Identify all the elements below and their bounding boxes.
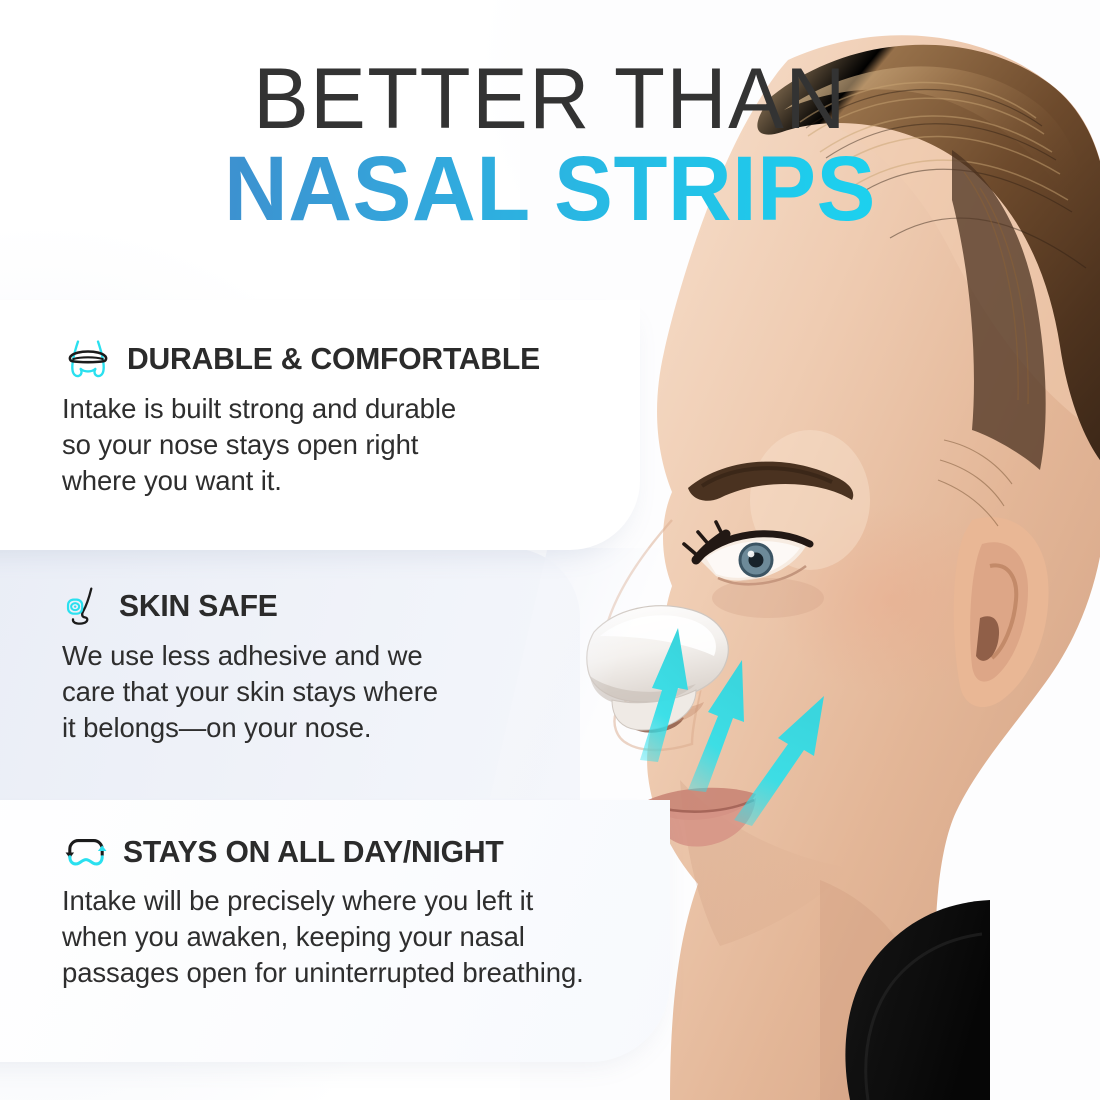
feature-body: We use less adhesive and we care that yo… — [62, 638, 532, 745]
feature-durable-comfortable: DURABLE & COMFORTABLE Intake is built st… — [62, 338, 642, 498]
feature-title: SKIN SAFE — [119, 588, 278, 624]
feature-body: Intake will be precisely where you left … — [62, 883, 702, 990]
feature-heading-row: SKIN SAFE — [62, 585, 532, 627]
feature-heading-row: DURABLE & COMFORTABLE — [62, 338, 642, 380]
feature-title: STAYS ON ALL DAY/NIGHT — [123, 834, 504, 870]
nose-profile-skin-icon — [62, 585, 106, 627]
feature-title: DURABLE & COMFORTABLE — [127, 341, 540, 377]
ad-creative: BETTER THAN NASAL STRIPS DURABLE & COMFO… — [0, 0, 1100, 1100]
feature-skin-safe: SKIN SAFE We use less adhesive and we ca… — [62, 585, 532, 745]
feature-body: Intake is built strong and durable so yo… — [62, 391, 642, 498]
nose-with-dilator-icon — [62, 338, 114, 380]
feature-stays-on-all-day-night: STAYS ON ALL DAY/NIGHT Intake will be pr… — [62, 832, 702, 990]
device-refresh-loop-icon — [62, 832, 110, 872]
feature-heading-row: STAYS ON ALL DAY/NIGHT — [62, 832, 702, 872]
